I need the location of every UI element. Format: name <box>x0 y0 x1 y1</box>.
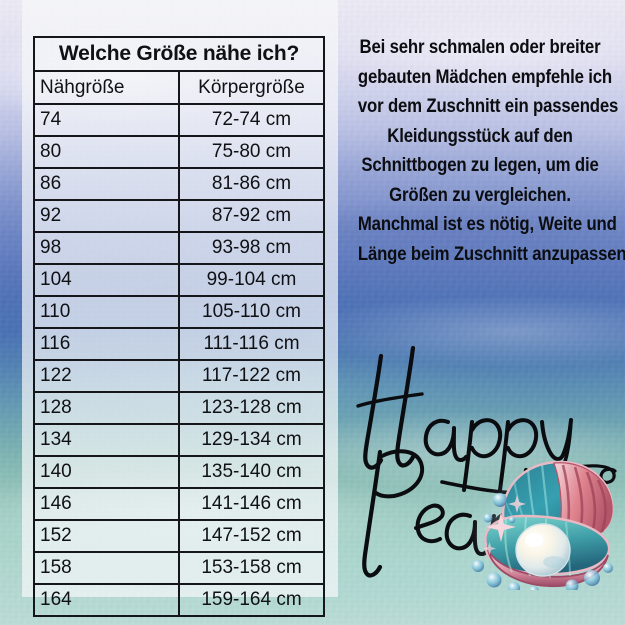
bubble <box>487 573 502 588</box>
seashell-pearl-illustration <box>468 462 613 590</box>
table-row: 9287-92 cm <box>34 200 324 232</box>
cell-sewing-size: 146 <box>34 488 179 520</box>
table-row: 140135-140 cm <box>34 456 324 488</box>
bubble <box>509 517 515 523</box>
note-line: Größen zu vergleichen. <box>358 181 602 211</box>
size-chart-table: Welche Größe nähe ich? Nähgröße Körpergr… <box>33 36 325 617</box>
note-line: Kleidungsstück auf den <box>358 122 602 152</box>
table-row: 146141-146 cm <box>34 488 324 520</box>
table-header-row: Nähgröße Körpergröße <box>34 71 324 104</box>
cell-sewing-size: 92 <box>34 200 179 232</box>
cell-body-height: 135-140 cm <box>179 456 324 488</box>
logo-artwork <box>350 330 625 590</box>
table-row: 7472-74 cm <box>34 104 324 136</box>
cell-sewing-size: 74 <box>34 104 179 136</box>
cell-sewing-size: 140 <box>34 456 179 488</box>
bubble <box>493 493 507 507</box>
happy-pearl-logo <box>350 330 625 590</box>
table-row: 8681-86 cm <box>34 168 324 200</box>
cell-sewing-size: 122 <box>34 360 179 392</box>
cell-body-height: 105-110 cm <box>179 296 324 328</box>
cell-sewing-size: 134 <box>34 424 179 456</box>
cell-sewing-size: 86 <box>34 168 179 200</box>
table-row: 164159-164 cm <box>34 584 324 616</box>
pearl <box>516 524 570 576</box>
cell-body-height: 153-158 cm <box>179 552 324 584</box>
cell-sewing-size: 80 <box>34 136 179 168</box>
cell-body-height: 123-128 cm <box>179 392 324 424</box>
bubble <box>584 570 600 586</box>
advice-note: Bei sehr schmalen oder breiter gebauten … <box>338 33 622 269</box>
cell-sewing-size: 104 <box>34 264 179 296</box>
table-row: 9893-98 cm <box>34 232 324 264</box>
cell-sewing-size: 158 <box>34 552 179 584</box>
cell-sewing-size: 152 <box>34 520 179 552</box>
table-row: 8075-80 cm <box>34 136 324 168</box>
cell-sewing-size: 110 <box>34 296 179 328</box>
note-line: Manchmal ist es nötig, Weite und <box>358 210 602 240</box>
cell-body-height: 141-146 cm <box>179 488 324 520</box>
cell-sewing-size: 98 <box>34 232 179 264</box>
note-line: Länge beim Zuschnitt anzupassen. <box>358 240 602 270</box>
bubble <box>472 560 484 572</box>
cell-body-height: 81-86 cm <box>179 168 324 200</box>
table-row: 128123-128 cm <box>34 392 324 424</box>
column-header-body-height: Körpergröße <box>179 71 324 104</box>
table-row: 152147-152 cm <box>34 520 324 552</box>
note-line: Bei sehr schmalen oder breiter <box>358 33 602 63</box>
cell-sewing-size: 116 <box>34 328 179 360</box>
cell-body-height: 147-152 cm <box>179 520 324 552</box>
cell-body-height: 111-116 cm <box>179 328 324 360</box>
cell-sewing-size: 128 <box>34 392 179 424</box>
poster-canvas: Welche Größe nähe ich? Nähgröße Körpergr… <box>0 0 625 625</box>
column-header-sewing-size: Nähgröße <box>34 71 179 104</box>
cell-body-height: 99-104 cm <box>179 264 324 296</box>
cell-body-height: 159-164 cm <box>179 584 324 616</box>
cell-body-height: 129-134 cm <box>179 424 324 456</box>
table-row: 116111-116 cm <box>34 328 324 360</box>
bubble <box>603 563 613 573</box>
bubble <box>484 514 493 523</box>
table-row: 122117-122 cm <box>34 360 324 392</box>
cell-body-height: 87-92 cm <box>179 200 324 232</box>
cell-body-height: 72-74 cm <box>179 104 324 136</box>
table-row: 134129-134 cm <box>34 424 324 456</box>
table-row: 110105-110 cm <box>34 296 324 328</box>
table-row: 10499-104 cm <box>34 264 324 296</box>
table-row: 158153-158 cm <box>34 552 324 584</box>
note-line: vor dem Zuschnitt ein passendes <box>358 92 602 122</box>
table-title-row: Welche Größe nähe ich? <box>34 37 324 71</box>
cell-body-height: 117-122 cm <box>179 360 324 392</box>
note-line: gebauten Mädchen empfehle ich <box>358 63 602 93</box>
cell-sewing-size: 164 <box>34 584 179 616</box>
cell-body-height: 93-98 cm <box>179 232 324 264</box>
cell-body-height: 75-80 cm <box>179 136 324 168</box>
note-line: Schnittbogen zu legen, um die <box>358 151 602 181</box>
size-chart-body: Welche Größe nähe ich? Nähgröße Körpergr… <box>34 37 324 616</box>
table-title: Welche Größe nähe ich? <box>34 37 324 71</box>
